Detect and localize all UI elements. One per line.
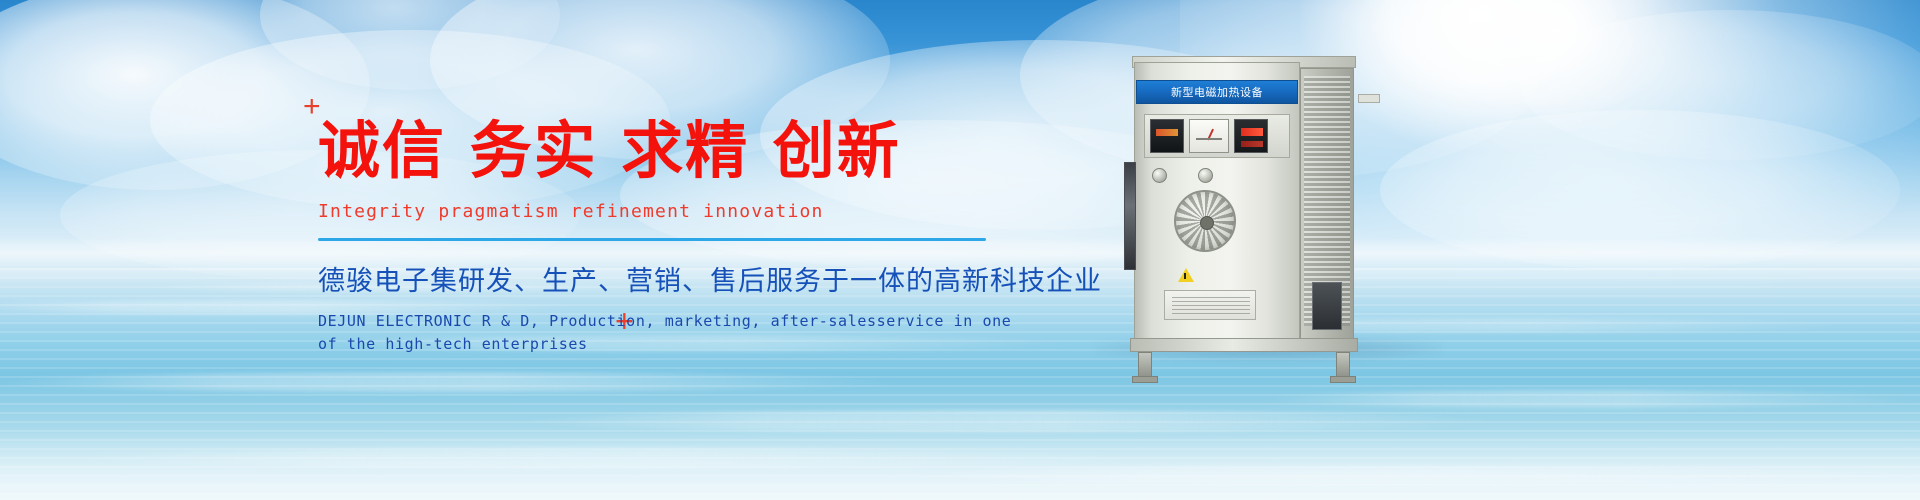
control-knob-icon bbox=[1152, 168, 1167, 183]
machine-control-panel bbox=[1144, 114, 1290, 158]
headline-chinese: 诚信 务实 求精 创新 bbox=[318, 120, 1038, 182]
wave-streak bbox=[1260, 390, 1920, 408]
sea-foam bbox=[0, 430, 1920, 500]
machine-foot bbox=[1330, 376, 1356, 383]
machine-side-strip bbox=[1124, 162, 1136, 270]
copy-divider bbox=[318, 238, 986, 241]
wave-streak bbox=[60, 448, 1160, 468]
fan-hub bbox=[1200, 216, 1214, 230]
machine-corner-tag bbox=[1358, 94, 1380, 103]
machine-leg bbox=[1138, 352, 1152, 378]
digital-display-icon bbox=[1150, 119, 1184, 153]
cloud bbox=[1520, 10, 1920, 160]
analog-gauge-icon bbox=[1189, 119, 1229, 153]
product-machine: 新型电磁加热设备 bbox=[1122, 62, 1422, 362]
machine-foot bbox=[1132, 376, 1158, 383]
cloud bbox=[1380, 110, 1900, 270]
subline-english-2: of the high-tech enterprises bbox=[318, 333, 1038, 356]
machine-leg bbox=[1336, 352, 1350, 378]
subline-english-1: DEJUN ELECTRONIC R & D, Production, mark… bbox=[318, 310, 1038, 333]
machine-knobs bbox=[1150, 166, 1270, 186]
fan-grille-icon bbox=[1174, 190, 1236, 252]
cloud bbox=[260, 0, 560, 90]
machine-base bbox=[1130, 338, 1358, 352]
machine-brand-label: 新型电磁加热设备 bbox=[1136, 80, 1298, 104]
warning-mark bbox=[1184, 273, 1186, 279]
banner-copy: 诚信 务实 求精 创新 Integrity pragmatism refinem… bbox=[318, 98, 1038, 356]
wave-streak bbox=[520, 410, 1500, 432]
led-readout-icon bbox=[1234, 119, 1268, 153]
machine-spec-plate bbox=[1164, 290, 1256, 320]
wave-streak bbox=[900, 466, 1920, 484]
control-knob-icon bbox=[1198, 168, 1213, 183]
promo-banner: + + 诚信 务实 求精 创新 Integrity pragmatism ref… bbox=[0, 0, 1920, 500]
wave-streak bbox=[0, 372, 900, 392]
headline-english: Integrity pragmatism refinement innovati… bbox=[318, 201, 1038, 222]
machine-rear-vent bbox=[1312, 282, 1342, 330]
subline-chinese: 德骏电子集研发、生产、营销、售后服务于一体的高新科技企业 bbox=[318, 259, 1038, 298]
machine-label-text: 新型电磁加热设备 bbox=[1171, 84, 1263, 100]
